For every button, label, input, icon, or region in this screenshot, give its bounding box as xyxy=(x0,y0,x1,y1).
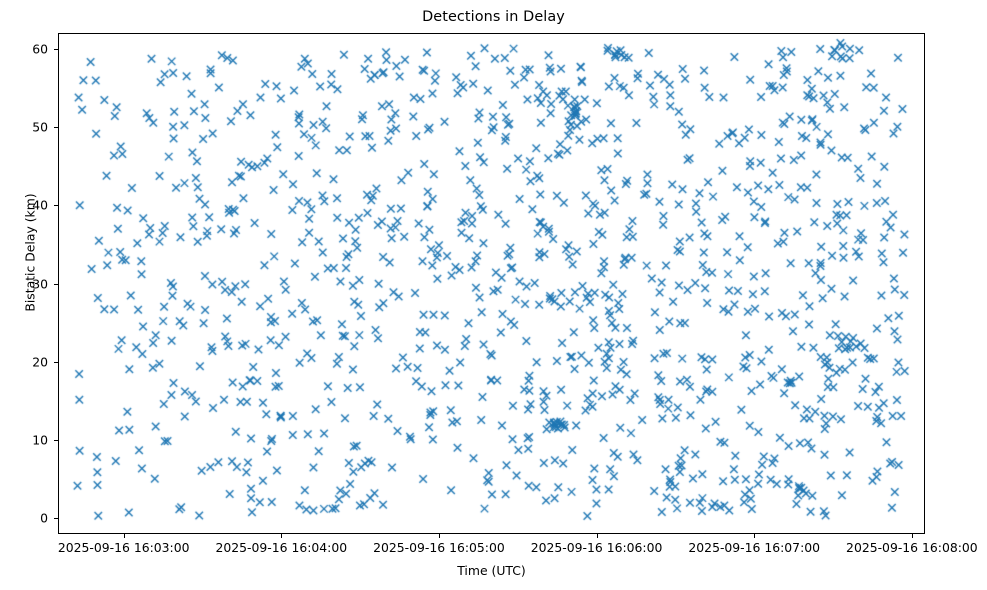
x-tick-label: 2025-09-16 16:08:00 xyxy=(846,540,978,555)
scatter-plot-canvas xyxy=(59,34,925,534)
x-tick-label: 2025-09-16 16:06:00 xyxy=(531,540,663,555)
y-tick-mark xyxy=(54,440,58,441)
y-tick-mark xyxy=(54,362,58,363)
x-tick-label: 2025-09-16 16:03:00 xyxy=(58,540,190,555)
y-tick-mark xyxy=(54,284,58,285)
x-tick-label: 2025-09-16 16:07:00 xyxy=(688,540,820,555)
matplotlib-figure: Detections in Delay 2025-09-16 16:03:002… xyxy=(0,0,987,590)
x-tick-mark xyxy=(754,534,755,538)
y-axis-label: Bistatic Delay (km) xyxy=(23,103,38,403)
x-tick-mark xyxy=(597,534,598,538)
y-tick-label: 10 xyxy=(0,433,48,448)
x-tick-mark xyxy=(439,534,440,538)
page-title: Detections in Delay xyxy=(0,9,987,25)
x-tick-mark xyxy=(124,534,125,538)
y-tick-mark xyxy=(54,518,58,519)
x-tick-mark xyxy=(912,534,913,538)
y-tick-label: 0 xyxy=(0,511,48,526)
y-tick-mark xyxy=(54,49,58,50)
x-tick-label: 2025-09-16 16:04:00 xyxy=(216,540,348,555)
y-tick-mark xyxy=(54,127,58,128)
x-axis-label: Time (UTC) xyxy=(58,563,925,578)
plot-axes-area xyxy=(58,33,925,534)
x-tick-mark xyxy=(281,534,282,538)
y-tick-label: 60 xyxy=(0,41,48,56)
y-tick-mark xyxy=(54,205,58,206)
x-tick-label: 2025-09-16 16:05:00 xyxy=(373,540,505,555)
